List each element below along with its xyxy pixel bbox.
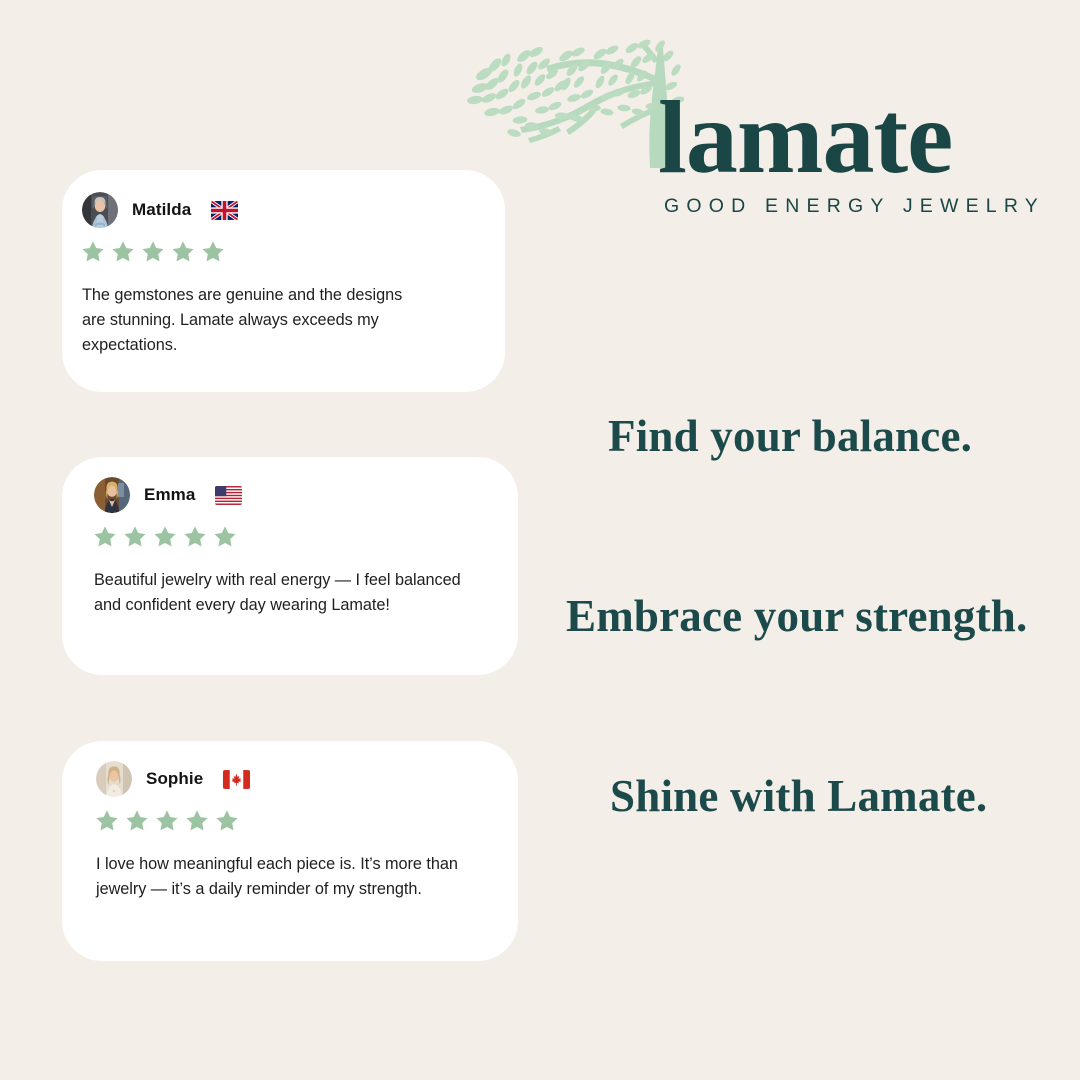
star-icon (80, 239, 106, 265)
brand-wordmark: lamate (658, 86, 952, 190)
united-states-flag-icon (215, 486, 242, 505)
headline-find-your-balance: Find your balance. (608, 410, 972, 462)
review-text: The gemstones are genuine and the design… (82, 283, 412, 358)
canada-flag-icon (223, 770, 250, 789)
star-icon (154, 808, 180, 834)
review-header: Sophie (96, 761, 518, 797)
reviewer-name: Sophie (146, 769, 203, 789)
star-icon (200, 239, 226, 265)
review-card: Matilda The gemstones are genuine and th… (62, 170, 505, 392)
star-icon (94, 808, 120, 834)
star-icon (152, 524, 178, 550)
star-rating (94, 808, 518, 834)
star-icon (212, 524, 238, 550)
brand-logo: lamate GOOD ENERGY JEWELRY (462, 38, 1042, 228)
star-rating (80, 239, 505, 265)
star-icon (124, 808, 150, 834)
headline-shine-with-lamate: Shine with Lamate. (610, 770, 987, 822)
avatar (82, 192, 118, 228)
review-text: I love how meaningful each piece is. It’… (96, 852, 468, 902)
star-icon (122, 524, 148, 550)
star-icon (170, 239, 196, 265)
review-card: Emma Beautiful jewelry with real energy … (62, 457, 518, 675)
united-kingdom-flag-icon (211, 201, 238, 220)
star-rating (92, 524, 518, 550)
reviewer-name: Emma (144, 485, 195, 505)
star-icon (140, 239, 166, 265)
star-icon (110, 239, 136, 265)
headline-embrace-your-strength: Embrace your strength. (566, 590, 1027, 642)
avatar (94, 477, 130, 513)
star-icon (214, 808, 240, 834)
review-text: Beautiful jewelry with real energy — I f… (94, 568, 462, 618)
review-header: Matilda (82, 192, 505, 228)
review-card: Sophie I love how meaningful each piece … (62, 741, 518, 961)
star-icon (182, 524, 208, 550)
avatar (96, 761, 132, 797)
reviewer-name: Matilda (132, 200, 191, 220)
review-header: Emma (94, 477, 518, 513)
star-icon (92, 524, 118, 550)
star-icon (184, 808, 210, 834)
brand-tagline: GOOD ENERGY JEWELRY (664, 195, 1045, 218)
